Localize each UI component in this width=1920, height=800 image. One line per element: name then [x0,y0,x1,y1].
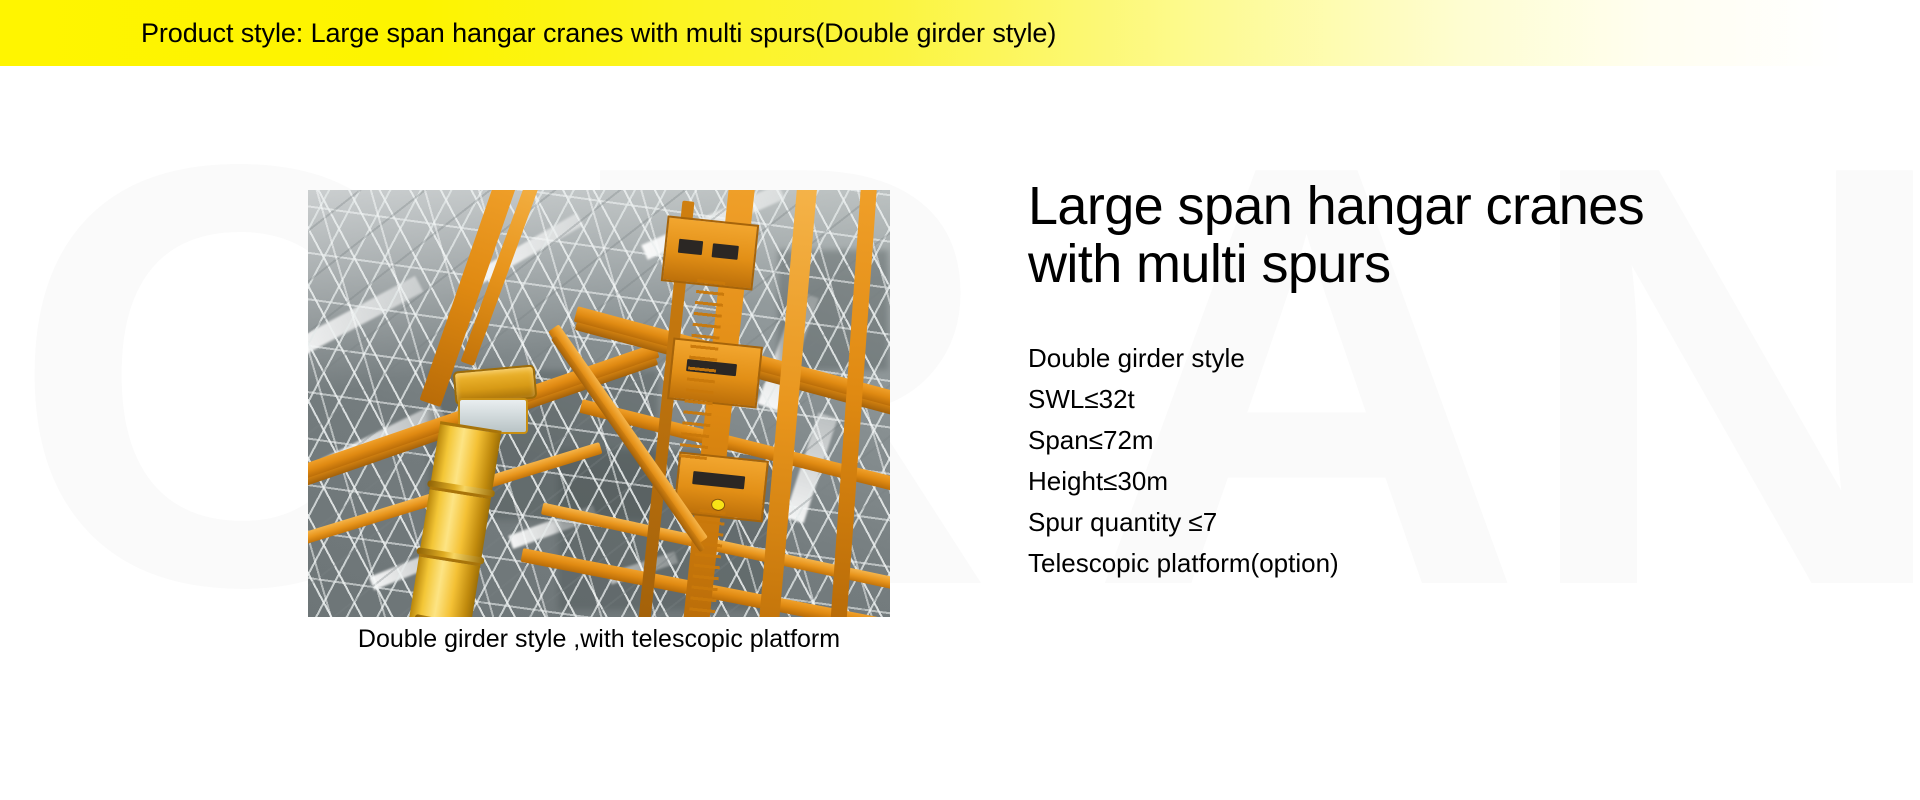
spec-item-spur-quantity: Spur quantity ≤7 [1028,502,1728,543]
mast-segment [408,554,480,617]
spec-item-swl: SWL≤32t [1028,379,1728,420]
spec-item-telescopic-platform: Telescopic platform(option) [1028,543,1728,584]
trolley-slot [712,243,739,260]
crane-hook [712,499,725,510]
spec-item-girder-style: Double girder style [1028,338,1728,379]
trolley-slot [692,471,745,489]
product-info-column: Large span hangar cranes with multi spur… [1028,178,1728,584]
spec-item-span: Span≤72m [1028,420,1728,461]
product-spec-list: Double girder style SWL≤32t Span≤72m Hei… [1028,338,1728,584]
header-bar: Product style: Large span hangar cranes … [0,0,1920,66]
product-title-line-2: with multi spurs [1028,234,1391,294]
crane-trolley-box [661,215,759,290]
product-title-line-1: Large span hangar cranes [1028,176,1644,236]
product-style-heading: Product style: Large span hangar cranes … [141,0,1056,66]
product-title: Large span hangar cranes with multi spur… [1028,178,1728,294]
spec-item-height: Height≤30m [1028,461,1728,502]
photo-caption: Double girder style ,with telescopic pla… [308,625,890,654]
trolley-slot [678,239,703,255]
crane-photo-container [308,190,890,617]
crane-photo [308,190,890,617]
